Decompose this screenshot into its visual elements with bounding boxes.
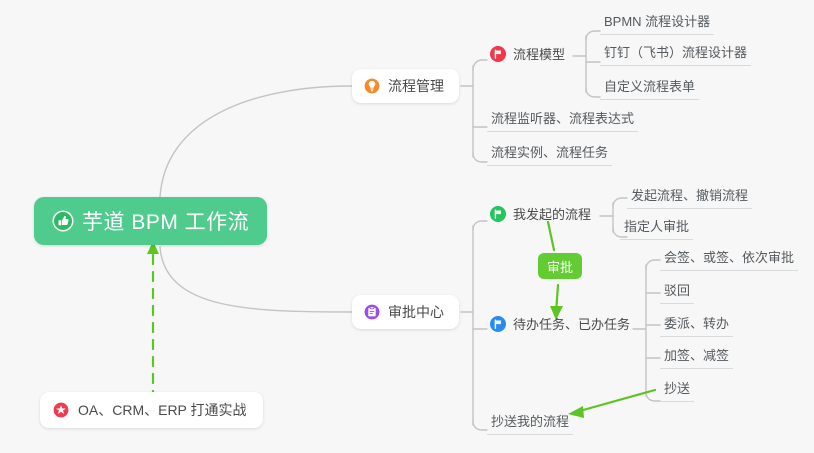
leaf-label: 抄送我的流程 [491, 411, 569, 430]
node-label: 我发起的流程 [513, 204, 591, 223]
leaf-assignee-approval[interactable]: 指定人审批 [620, 216, 693, 240]
leaf-process-listener[interactable]: 流程监听器、流程表达式 [487, 108, 638, 132]
node-my-started-processes[interactable]: 我发起的流程 [490, 204, 591, 223]
star-icon [52, 401, 70, 419]
branch-process-management[interactable]: 流程管理 [352, 69, 459, 103]
wire-ac-cap-bot [473, 421, 487, 430]
leaf-custom-form[interactable]: 自定义流程表单 [600, 76, 699, 100]
leaf-countersign[interactable]: 会签、或签、依次审批 [660, 247, 798, 271]
callout-label: OA、CRM、ERP 打通实战 [78, 400, 247, 420]
wire-model-cap-top [586, 31, 600, 40]
arrow-started-to-badge [548, 222, 554, 250]
leaf-label: 指定人审批 [624, 216, 689, 235]
leaf-label: 流程监听器、流程表达式 [491, 108, 634, 127]
leaf-label: 自定义流程表单 [604, 76, 695, 95]
wire-root-to-approval-center [160, 247, 352, 312]
callout-node[interactable]: OA、CRM、ERP 打通实战 [40, 392, 263, 428]
node-label: 待办任务、已办任务 [513, 314, 630, 333]
approval-badge: 审批 [538, 253, 582, 279]
wire-todo-cap-top [646, 260, 660, 269]
wire-pm-spine-cap-bot [473, 153, 487, 162]
leaf-label: 抄送 [664, 378, 690, 397]
wire-todo-cap-bot [646, 392, 660, 401]
leaf-bpmn-designer[interactable]: BPMN 流程设计器 [600, 11, 714, 35]
clipboard-icon [363, 303, 381, 321]
leaf-delegate-transfer[interactable]: 委派、转办 [660, 313, 733, 337]
flag-icon [490, 46, 506, 62]
wire-model-cap-bot [586, 88, 600, 97]
leaf-cc[interactable]: 抄送 [660, 378, 694, 402]
leaf-label: BPMN 流程设计器 [604, 11, 710, 30]
node-todo-done-tasks[interactable]: 待办任务、已办任务 [490, 314, 630, 333]
branch-label: 审批中心 [388, 302, 444, 322]
leaf-label: 钉钉（飞书）流程设计器 [604, 42, 747, 61]
arrow-cc-to-myflow [576, 390, 655, 412]
leaf-start-cancel-process[interactable]: 发起流程、撤销流程 [627, 185, 752, 209]
leaf-add-remove-sign[interactable]: 加签、减签 [660, 345, 733, 369]
arrow-badge-to-todo [556, 285, 558, 313]
leaf-label: 流程实例、流程任务 [491, 142, 608, 161]
mindmap-canvas: 芋道 BPM 工作流 OA、CRM、ERP 打通实战 流程管理 [0, 0, 814, 453]
flag-icon [490, 316, 506, 332]
branch-label: 流程管理 [388, 76, 444, 96]
flag-icon [490, 206, 506, 222]
branch-approval-center[interactable]: 审批中心 [352, 295, 459, 329]
leaf-label: 驳回 [664, 280, 690, 299]
root-node[interactable]: 芋道 BPM 工作流 [34, 197, 267, 245]
wire-ac-cap-top [473, 221, 487, 230]
leaf-process-instance[interactable]: 流程实例、流程任务 [487, 142, 612, 166]
root-label: 芋道 BPM 工作流 [82, 206, 249, 236]
leaf-label: 加签、减签 [664, 345, 729, 364]
node-process-model[interactable]: 流程模型 [490, 44, 565, 63]
wire-started-cap-top [613, 198, 627, 207]
leaf-label: 会签、或签、依次审批 [664, 247, 794, 266]
thumbs-up-icon [52, 210, 74, 232]
lightbulb-icon [363, 77, 381, 95]
wire-pm-spine-cap-top [473, 60, 487, 70]
node-label: 流程模型 [513, 44, 565, 63]
leaf-dingtalk-designer[interactable]: 钉钉（飞书）流程设计器 [600, 42, 751, 66]
leaf-label: 发起流程、撤销流程 [631, 185, 748, 204]
wire-root-to-process-management [160, 86, 352, 197]
leaf-reject[interactable]: 驳回 [660, 280, 694, 304]
leaf-label: 委派、转办 [664, 313, 729, 332]
badge-label: 审批 [547, 257, 573, 276]
leaf-cc-to-me-process[interactable]: 抄送我的流程 [487, 411, 573, 435]
